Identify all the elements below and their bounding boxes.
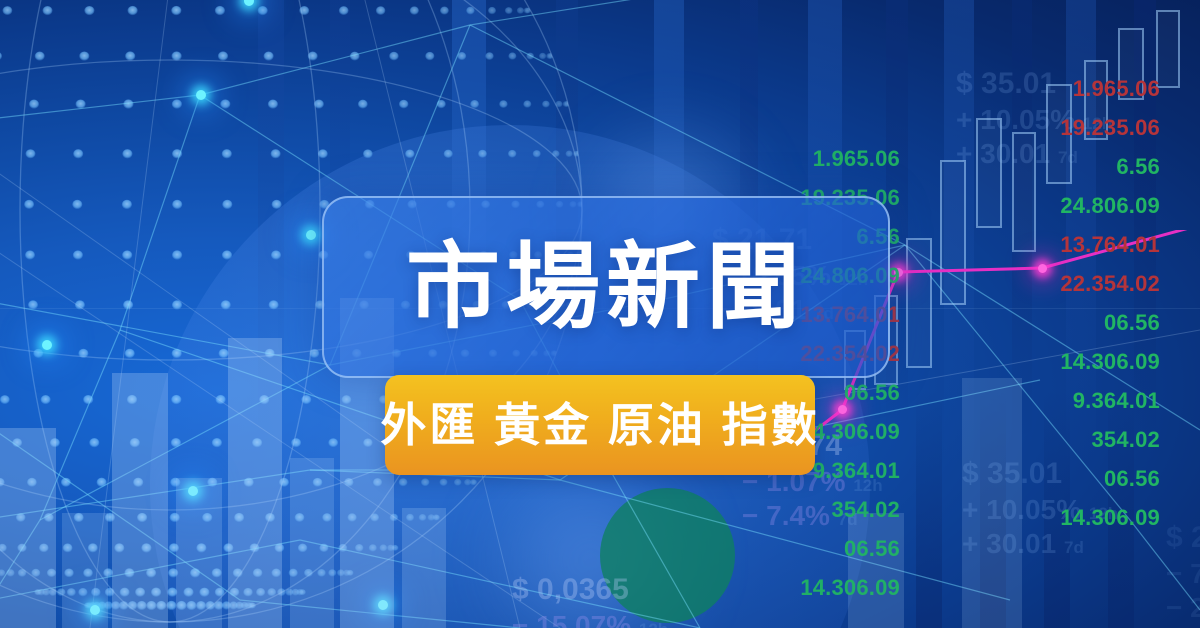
watermark-far-right-low: $ 21.71 − 7.05% 12h − 2.01 7d	[1166, 520, 1200, 625]
ticker-value: 14.306.09	[1000, 507, 1160, 529]
ticker-value: 24.806.09	[1000, 195, 1160, 217]
ticker-value: 06.56	[1000, 468, 1160, 490]
network-node-icon	[306, 230, 316, 240]
bar-item	[290, 458, 334, 628]
subtitle-badge[interactable]: 外匯 黃金 原油 指數	[385, 375, 815, 475]
watermark-bottom-center: $ 0,0365 − 15.07% 12h − 40.4% 7d	[512, 572, 668, 628]
watermark-7d: − 2.01 7d	[1166, 591, 1200, 625]
subtitle-text: 外匯 黃金 原油 指數	[380, 402, 819, 448]
ticker-value: 06.56	[1000, 312, 1160, 334]
ticker-value: 14.306.09	[1000, 351, 1160, 373]
ticker-value: 22.354.02	[1000, 273, 1160, 295]
ticker-value: 1.965.06	[1000, 78, 1160, 100]
ticker-value: 1.965.06	[760, 148, 900, 170]
page-title: 市場新聞	[406, 240, 806, 334]
watermark-12h: − 15.07% 12h	[512, 609, 668, 628]
title-card: 市場新聞	[322, 196, 890, 378]
banner-stage: $ 35.01 + 10.05% 12h + 30.01 7d $ 21.71 …	[0, 0, 1200, 628]
bar-item	[176, 478, 222, 628]
ticker-value: 9.364.01	[1000, 390, 1160, 412]
ticker-value: 06.56	[760, 538, 900, 560]
ticker-value: 13.764.01	[1000, 234, 1160, 256]
bar-item	[62, 513, 108, 628]
bar-item	[0, 428, 56, 628]
bar-item	[402, 508, 446, 628]
ticker-value: 19.235.06	[1000, 117, 1160, 139]
watermark-price: $ 21.71	[1166, 520, 1200, 557]
ticker-value: 14.306.09	[760, 577, 900, 599]
network-node-icon	[196, 90, 206, 100]
bar-item	[228, 338, 282, 628]
ticker-value: 354.02	[760, 499, 900, 521]
ticker-value: 6.56	[1000, 156, 1160, 178]
watermark-12h: − 7.05% 12h	[1166, 557, 1200, 591]
ticker-column-right: 1.965.0619.235.066.5624.806.0913.764.012…	[1000, 78, 1160, 546]
watermark-price: $ 0,0365	[512, 572, 668, 609]
ticker-value: 354.02	[1000, 429, 1160, 451]
bar-item	[112, 373, 168, 628]
